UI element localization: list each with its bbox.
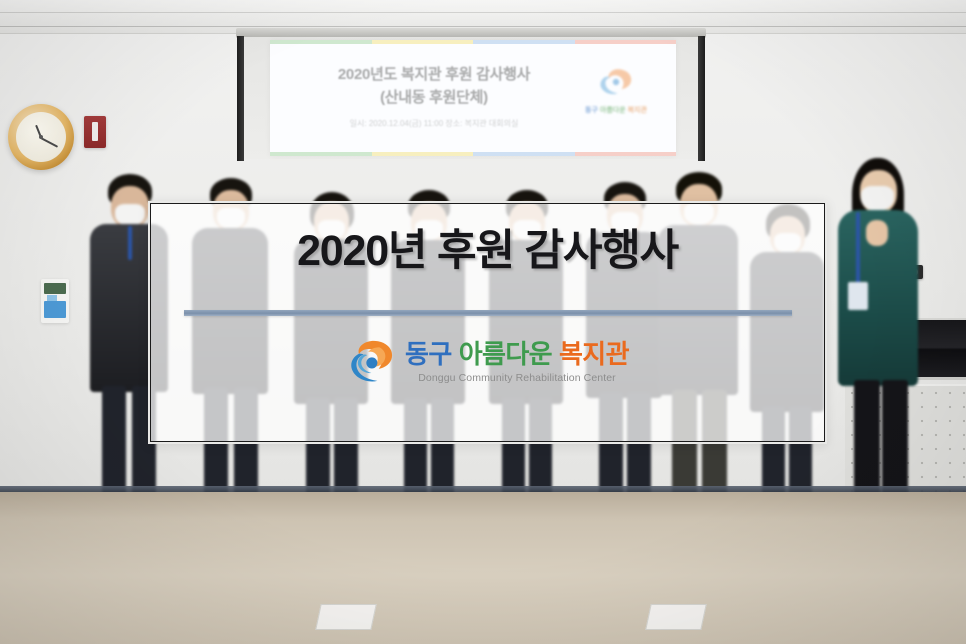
- accent-red: [575, 40, 677, 44]
- id-badge: [848, 282, 868, 310]
- slide-accent-bar-top: [270, 40, 676, 44]
- brand-part-areumdaun: 아름다운: [459, 339, 552, 369]
- ceiling-seam-secondary: [0, 26, 966, 27]
- event-photo-overlay: 2020년도 복지관 후원 감사행사 (산내동 후원단체) 일시: 2020.1…: [0, 0, 966, 644]
- hand-finger-heart: [866, 220, 888, 246]
- title-overlay-card: 2020년 후원 감사행사 동구아름다운복지관 Donggu Community…: [148, 201, 827, 444]
- slide-logo-mark-icon: [596, 66, 636, 98]
- slide-logo-part2: 아름다운: [600, 107, 626, 114]
- accent-green: [270, 40, 372, 44]
- brand-text: 동구아름다운복지관 Donggu Community Rehabilitatio…: [405, 341, 629, 384]
- slide-title-line2: (산내동 후원단체): [284, 87, 584, 110]
- title-divider: [184, 310, 792, 316]
- slide-logo-part1: 동구: [585, 107, 598, 114]
- brand-part-donggu: 동구: [405, 339, 452, 369]
- slide-logo: 동구 아름다운 복지관: [570, 66, 662, 115]
- fire-alarm-box-icon: [84, 116, 106, 148]
- ceiling-seam: [0, 12, 966, 13]
- lanyard: [856, 212, 860, 284]
- slide-title: 2020년도 복지관 후원 감사행사 (산내동 후원단체): [284, 64, 584, 109]
- screen-rail-right: [698, 36, 705, 161]
- projector-screen-surface: 2020년도 복지관 후원 감사행사 (산내동 후원단체) 일시: 2020.1…: [244, 37, 698, 159]
- brand-korean-name: 동구아름다운복지관: [405, 341, 629, 367]
- donggu-heart-logo-mark-icon: [346, 339, 394, 385]
- brand-part-bokjigwan: 복지관: [559, 339, 629, 369]
- slide-title-line1: 2020년도 복지관 후원 감사행사: [284, 64, 584, 87]
- organization-brand: 동구아름다운복지관 Donggu Community Rehabilitatio…: [346, 339, 629, 385]
- accent-blue: [473, 40, 575, 44]
- face-mask: [115, 204, 145, 226]
- floor-marker: [315, 604, 377, 630]
- floor-marker: [645, 604, 707, 630]
- page-title: 2020년 후원 감사행사: [297, 230, 678, 273]
- clock-minute-hand: [41, 137, 59, 147]
- title-overlay-content: 2020년 후원 감사행사 동구아름다운복지관 Donggu Community…: [151, 204, 824, 441]
- accent-yellow: [372, 40, 474, 44]
- screen-rail-left: [237, 36, 244, 161]
- lanyard: [128, 226, 132, 260]
- face-mask: [861, 186, 894, 211]
- brand-english-name: Donggu Community Rehabilitation Center: [418, 372, 616, 384]
- slide-logo-part3: 복지관: [628, 107, 647, 114]
- room-floor: [0, 492, 966, 644]
- projected-slide: 2020년도 복지관 후원 감사행사 (산내동 후원단체) 일시: 2020.1…: [270, 40, 676, 156]
- projector-screen: 2020년도 복지관 후원 감사행사 (산내동 후원단체) 일시: 2020.1…: [236, 28, 706, 161]
- slide-logo-text: 동구 아름다운 복지관: [570, 105, 662, 115]
- slide-details: 일시: 2020.12.04(금) 11:00 장소: 복지관 대회의실: [284, 118, 584, 129]
